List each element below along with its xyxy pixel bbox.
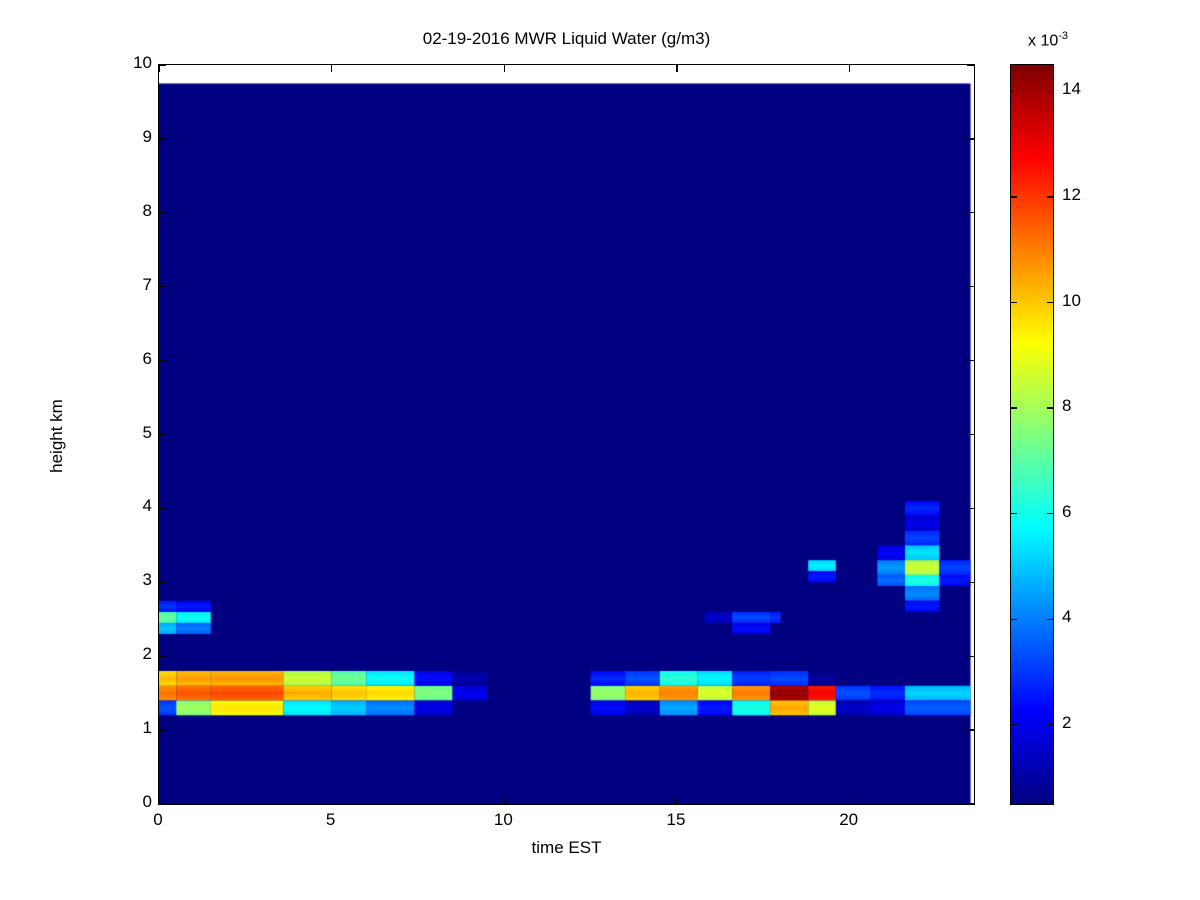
y-tick-label: 0 (96, 792, 152, 812)
y-tick-mark-mirror (967, 803, 974, 804)
y-tick-mark (159, 656, 166, 657)
x-tick-mark (158, 797, 159, 804)
y-tick-mark (159, 212, 166, 213)
colorbar-tick-mark (1011, 724, 1017, 725)
y-tick-mark-mirror (967, 64, 974, 65)
colorbar-exponent-base: x 10 (1028, 32, 1058, 49)
x-tick-label: 20 (819, 810, 879, 830)
x-tick-mark-mirror (504, 65, 505, 72)
colorbar-tick-label: 14 (1062, 79, 1081, 99)
page-title: 02-19-2016 MWR Liquid Water (g/m3) (158, 29, 975, 49)
colorbar-tick-mark (1011, 619, 1017, 620)
colorbar-tick-label: 10 (1062, 291, 1081, 311)
y-tick-mark-mirror (967, 656, 974, 657)
colorbar-tick-label: 12 (1062, 185, 1081, 205)
y-tick-mark (159, 508, 166, 509)
y-tick-mark (159, 803, 166, 804)
colorbar-tick-mark-mirror (1047, 513, 1053, 514)
x-tick-mark-mirror (676, 65, 677, 72)
y-tick-label: 9 (96, 127, 152, 147)
y-tick-label: 6 (96, 349, 152, 369)
x-tick-mark-mirror (331, 65, 332, 72)
y-tick-label: 5 (96, 423, 152, 443)
y-tick-mark (159, 286, 166, 287)
y-tick-mark (159, 138, 166, 139)
colorbar-exponent-power: -3 (1058, 30, 1068, 42)
colorbar-tick-mark-mirror (1047, 196, 1053, 197)
y-tick-mark (159, 434, 166, 435)
x-tick-label: 10 (473, 810, 533, 830)
colorbar-tick-mark-mirror (1047, 91, 1053, 92)
heatmap-axes[interactable] (158, 64, 975, 805)
x-tick-mark-mirror (158, 65, 159, 72)
y-tick-label: 8 (96, 201, 152, 221)
colorbar-tick-label: 4 (1062, 607, 1071, 627)
matlab-figure: 02-19-2016 MWR Liquid Water (g/m3) 01234… (0, 0, 1200, 900)
colorbar-tick-mark (1011, 196, 1017, 197)
colorbar-tick-mark (1011, 91, 1017, 92)
y-tick-label: 2 (96, 644, 152, 664)
x-tick-mark (849, 797, 850, 804)
y-tick-mark-mirror (967, 138, 974, 139)
colorbar-tick-mark (1011, 302, 1017, 303)
heatmap-plot[interactable] (159, 65, 974, 804)
colorbar-tick-mark-mirror (1047, 407, 1053, 408)
y-tick-mark (159, 64, 166, 65)
x-tick-label: 15 (646, 810, 706, 830)
colorbar-tick-label: 6 (1062, 502, 1071, 522)
y-tick-mark (159, 360, 166, 361)
colorbar-tick-mark-mirror (1047, 302, 1053, 303)
y-tick-mark (159, 729, 166, 730)
y-tick-mark-mirror (967, 582, 974, 583)
y-tick-label: 3 (96, 570, 152, 590)
y-tick-label: 10 (96, 53, 152, 73)
y-axis-label: height km (47, 356, 67, 516)
y-tick-mark-mirror (967, 212, 974, 213)
y-tick-label: 1 (96, 718, 152, 738)
x-tick-label: 0 (128, 810, 188, 830)
colorbar-gradient (1011, 65, 1053, 804)
x-tick-mark (504, 797, 505, 804)
colorbar[interactable] (1010, 64, 1054, 805)
x-tick-mark (676, 797, 677, 804)
colorbar-tick-label: 2 (1062, 713, 1071, 733)
y-tick-mark-mirror (967, 360, 974, 361)
colorbar-tick-mark (1011, 513, 1017, 514)
x-tick-label: 5 (301, 810, 361, 830)
y-tick-label: 4 (96, 496, 152, 516)
colorbar-exponent-label: x 10-3 (1028, 30, 1068, 50)
colorbar-tick-mark (1011, 407, 1017, 408)
y-tick-mark-mirror (967, 729, 974, 730)
y-tick-mark-mirror (967, 286, 974, 287)
colorbar-tick-mark-mirror (1047, 619, 1053, 620)
colorbar-tick-label: 8 (1062, 396, 1071, 416)
y-tick-mark-mirror (967, 508, 974, 509)
x-tick-mark (331, 797, 332, 804)
y-tick-label: 7 (96, 275, 152, 295)
colorbar-tick-mark-mirror (1047, 724, 1053, 725)
x-tick-mark-mirror (849, 65, 850, 72)
y-tick-mark-mirror (967, 434, 974, 435)
x-axis-label: time EST (158, 838, 975, 858)
y-tick-mark (159, 582, 166, 583)
